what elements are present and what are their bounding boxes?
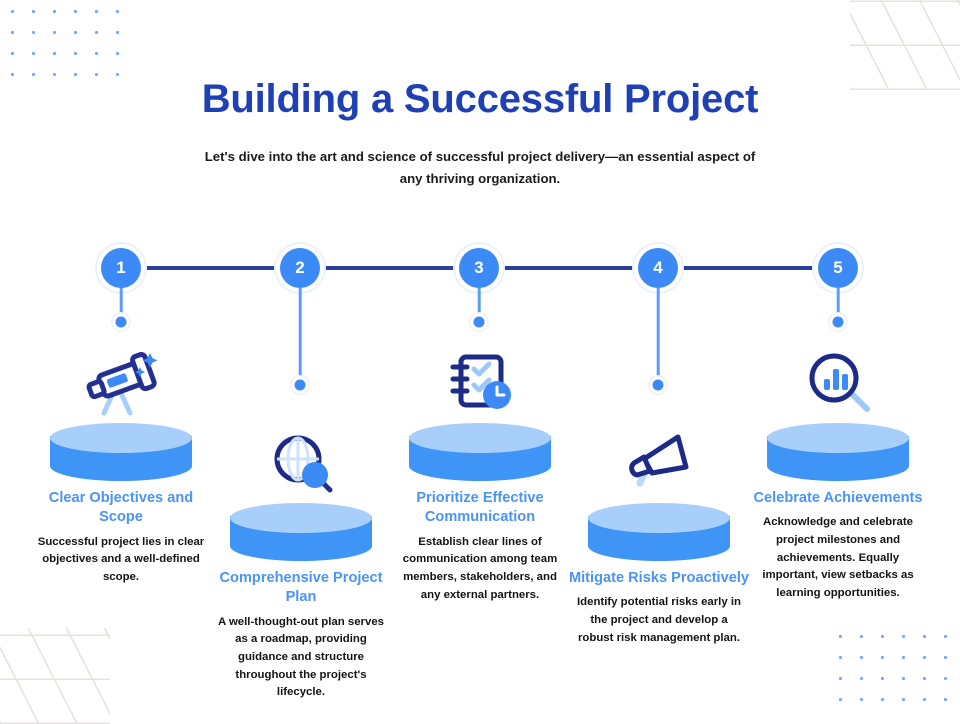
step-title-5: Celebrate Achievements bbox=[743, 489, 933, 508]
step-body-1: Successful project lies in clear objecti… bbox=[37, 534, 205, 587]
step-body-2: A well-thought-out plan serves as a road… bbox=[217, 614, 385, 702]
node-number: 4 bbox=[638, 248, 678, 288]
node-number: 1 bbox=[101, 248, 141, 288]
timeline-node-3[interactable]: 3 bbox=[459, 248, 499, 288]
step-column-4: Mitigate Risks Proactively Identify pote… bbox=[564, 425, 754, 647]
step-body-4: Identify potential risks early in the pr… bbox=[575, 594, 743, 647]
pedestal bbox=[50, 423, 192, 475]
timeline-node-2[interactable]: 2 bbox=[280, 248, 320, 288]
node-drop-dot-4 bbox=[653, 380, 664, 391]
step-column-5: Celebrate Achievements Acknowledge and c… bbox=[743, 345, 933, 603]
step-column-2: Comprehensive Project Plan A well-though… bbox=[206, 425, 396, 702]
timeline-node-5[interactable]: 5 bbox=[818, 248, 858, 288]
globe-search-icon bbox=[206, 425, 396, 499]
timeline-node-1[interactable]: 1 bbox=[101, 248, 141, 288]
chart-magnifier-icon bbox=[743, 345, 933, 419]
node-drop-dot-3 bbox=[474, 317, 485, 328]
step-title-3: Prioritize Effective Communication bbox=[385, 489, 575, 528]
node-drop-dot-1 bbox=[116, 317, 127, 328]
node-drop-dot-2 bbox=[295, 380, 306, 391]
timeline-node-4[interactable]: 4 bbox=[638, 248, 678, 288]
node-drop-dot-5 bbox=[833, 317, 844, 328]
node-drop-line-4 bbox=[657, 288, 660, 385]
megaphone-icon bbox=[564, 425, 754, 499]
notebook-checklist-clock-icon bbox=[385, 345, 575, 419]
node-number: 5 bbox=[818, 248, 858, 288]
step-body-5: Acknowledge and celebrate project milest… bbox=[754, 514, 922, 602]
node-number: 2 bbox=[280, 248, 320, 288]
pedestal bbox=[588, 503, 730, 555]
node-number: 3 bbox=[459, 248, 499, 288]
step-column-3: Prioritize Effective Communication Estab… bbox=[385, 345, 575, 604]
telescope-icon bbox=[26, 345, 216, 419]
step-title-1: Clear Objectives and Scope bbox=[26, 489, 216, 528]
step-body-3: Establish clear lines of communication a… bbox=[396, 534, 564, 605]
step-column-1: Clear Objectives and Scope Successful pr… bbox=[26, 345, 216, 587]
step-title-4: Mitigate Risks Proactively bbox=[564, 569, 754, 588]
pedestal bbox=[409, 423, 551, 475]
node-drop-line-2 bbox=[299, 288, 302, 385]
step-title-2: Comprehensive Project Plan bbox=[206, 569, 396, 608]
pedestal bbox=[767, 423, 909, 475]
pedestal bbox=[230, 503, 372, 555]
